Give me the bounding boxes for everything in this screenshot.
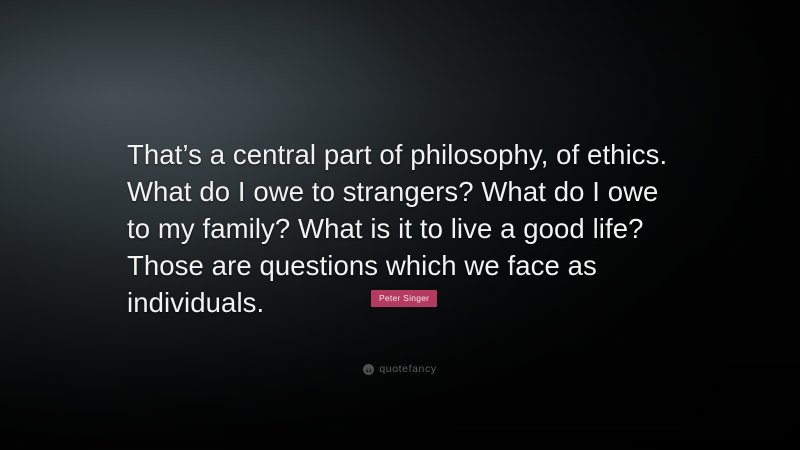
author-name: Peter Singer [379, 294, 429, 303]
watermark-label: quotefancy [379, 364, 436, 375]
quote-image-card: That’s a central part of philosophy, of … [0, 0, 800, 450]
quote-mark-icon [363, 364, 374, 375]
author-badge: Peter Singer [371, 290, 437, 307]
watermark: quotefancy [0, 364, 800, 375]
